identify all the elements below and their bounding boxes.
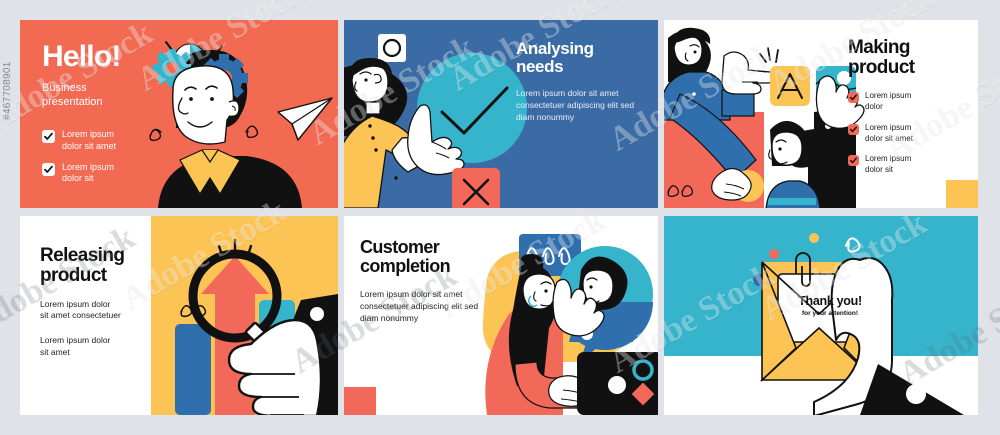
slide5-body: Lorem ipsum dolor sit amet consectetuer … bbox=[360, 288, 488, 325]
illustration-releasing-product bbox=[151, 216, 338, 415]
bar-blue bbox=[175, 324, 211, 415]
slide5-title: Customercompletion bbox=[360, 238, 488, 276]
slide1-subtitle: Businesspresentation bbox=[42, 81, 192, 109]
slide5-text-block: Customercompletion Lorem ipsum dolor sit… bbox=[360, 238, 488, 325]
confetti-dot-coral bbox=[769, 249, 779, 259]
circle-tile-icon bbox=[378, 34, 406, 62]
slide3-title: Makingproduct bbox=[848, 38, 968, 77]
slide1-text-block: Hello! Businesspresentation Lorem ipsumd… bbox=[42, 40, 192, 194]
slide2-text-block: Analysingneeds Lorem ipsum dolor sit ame… bbox=[516, 40, 644, 124]
thank-you-card-text: Thank you! for your attention! bbox=[788, 294, 872, 317]
thank-you-title: Thank you! bbox=[788, 294, 872, 308]
laptop-screen bbox=[577, 352, 658, 415]
slide3-checklist: Lorem ipsumdolor Lorem ipsumdolor sit am… bbox=[848, 91, 968, 176]
slide-hello-business-presentation[interactable]: Hello! Businesspresentation Lorem ipsumd… bbox=[20, 20, 338, 208]
slide-making-product[interactable]: Makingproduct Lorem ipsumdolor Lorem ips… bbox=[664, 20, 978, 208]
slide2-title: Analysingneeds bbox=[516, 40, 644, 77]
slide4-text-block: Releasingproduct Lorem ipsum dolorsit am… bbox=[40, 246, 158, 359]
slide4-paragraph-2: Lorem ipsum dolorsit amet bbox=[40, 335, 158, 359]
check-icon bbox=[848, 92, 859, 103]
cross-tile-icon bbox=[452, 168, 500, 208]
slide-releasing-product[interactable]: Releasingproduct Lorem ipsum dolorsit am… bbox=[20, 216, 338, 415]
slide-thank-you[interactable]: Thank you! for your attention! bbox=[664, 216, 978, 415]
list-item-label: Lorem ipsumdolor sit amet bbox=[865, 123, 913, 145]
slide4-title: Releasingproduct bbox=[40, 246, 158, 286]
check-icon bbox=[848, 155, 859, 166]
list-item[interactable]: Lorem ipsumdolor sit bbox=[42, 162, 192, 185]
slide1-title: Hello! bbox=[42, 40, 192, 74]
paper-plane-icon bbox=[278, 98, 332, 140]
confetti-dot-yellow bbox=[809, 233, 819, 243]
watermark-asset-id: #467708901 bbox=[2, 61, 13, 120]
check-icon bbox=[42, 163, 55, 176]
check-icon bbox=[42, 130, 55, 143]
list-item[interactable]: Lorem ipsumdolor sit amet bbox=[848, 123, 968, 145]
list-item[interactable]: Lorem ipsumdolor sit bbox=[848, 154, 968, 176]
letter-a-tile bbox=[770, 66, 810, 106]
slide-analysing-needs[interactable]: Analysingneeds Lorem ipsum dolor sit ame… bbox=[344, 20, 658, 208]
accent-chip-coral bbox=[344, 387, 376, 415]
slide2-body: Lorem ipsum dolor sit amet consectetuer … bbox=[516, 87, 644, 124]
slide3-text-block: Makingproduct Lorem ipsumdolor Lorem ips… bbox=[848, 38, 968, 186]
thank-you-subtitle: for your attention! bbox=[788, 310, 872, 317]
illustration-making-product bbox=[664, 20, 869, 208]
check-icon bbox=[848, 124, 859, 135]
list-item-label: Lorem ipsumdolor bbox=[865, 91, 911, 113]
presentation-template-sheet: Hello! Businesspresentation Lorem ipsumd… bbox=[0, 0, 1000, 435]
list-item[interactable]: Lorem ipsumdolor bbox=[848, 91, 968, 113]
list-item-label: Lorem ipsumdolor sit amet bbox=[62, 129, 116, 152]
list-item[interactable]: Lorem ipsumdolor sit amet bbox=[42, 129, 192, 152]
slide1-checklist: Lorem ipsumdolor sit amet Lorem ipsumdol… bbox=[42, 129, 192, 185]
list-item-label: Lorem ipsumdolor sit bbox=[865, 154, 911, 176]
list-item-label: Lorem ipsumdolor sit bbox=[62, 162, 114, 185]
slide-customer-completion[interactable]: Customercompletion Lorem ipsum dolor sit… bbox=[344, 216, 658, 415]
slide4-paragraph-1: Lorem ipsum dolorsit amet consectetuer bbox=[40, 299, 158, 323]
